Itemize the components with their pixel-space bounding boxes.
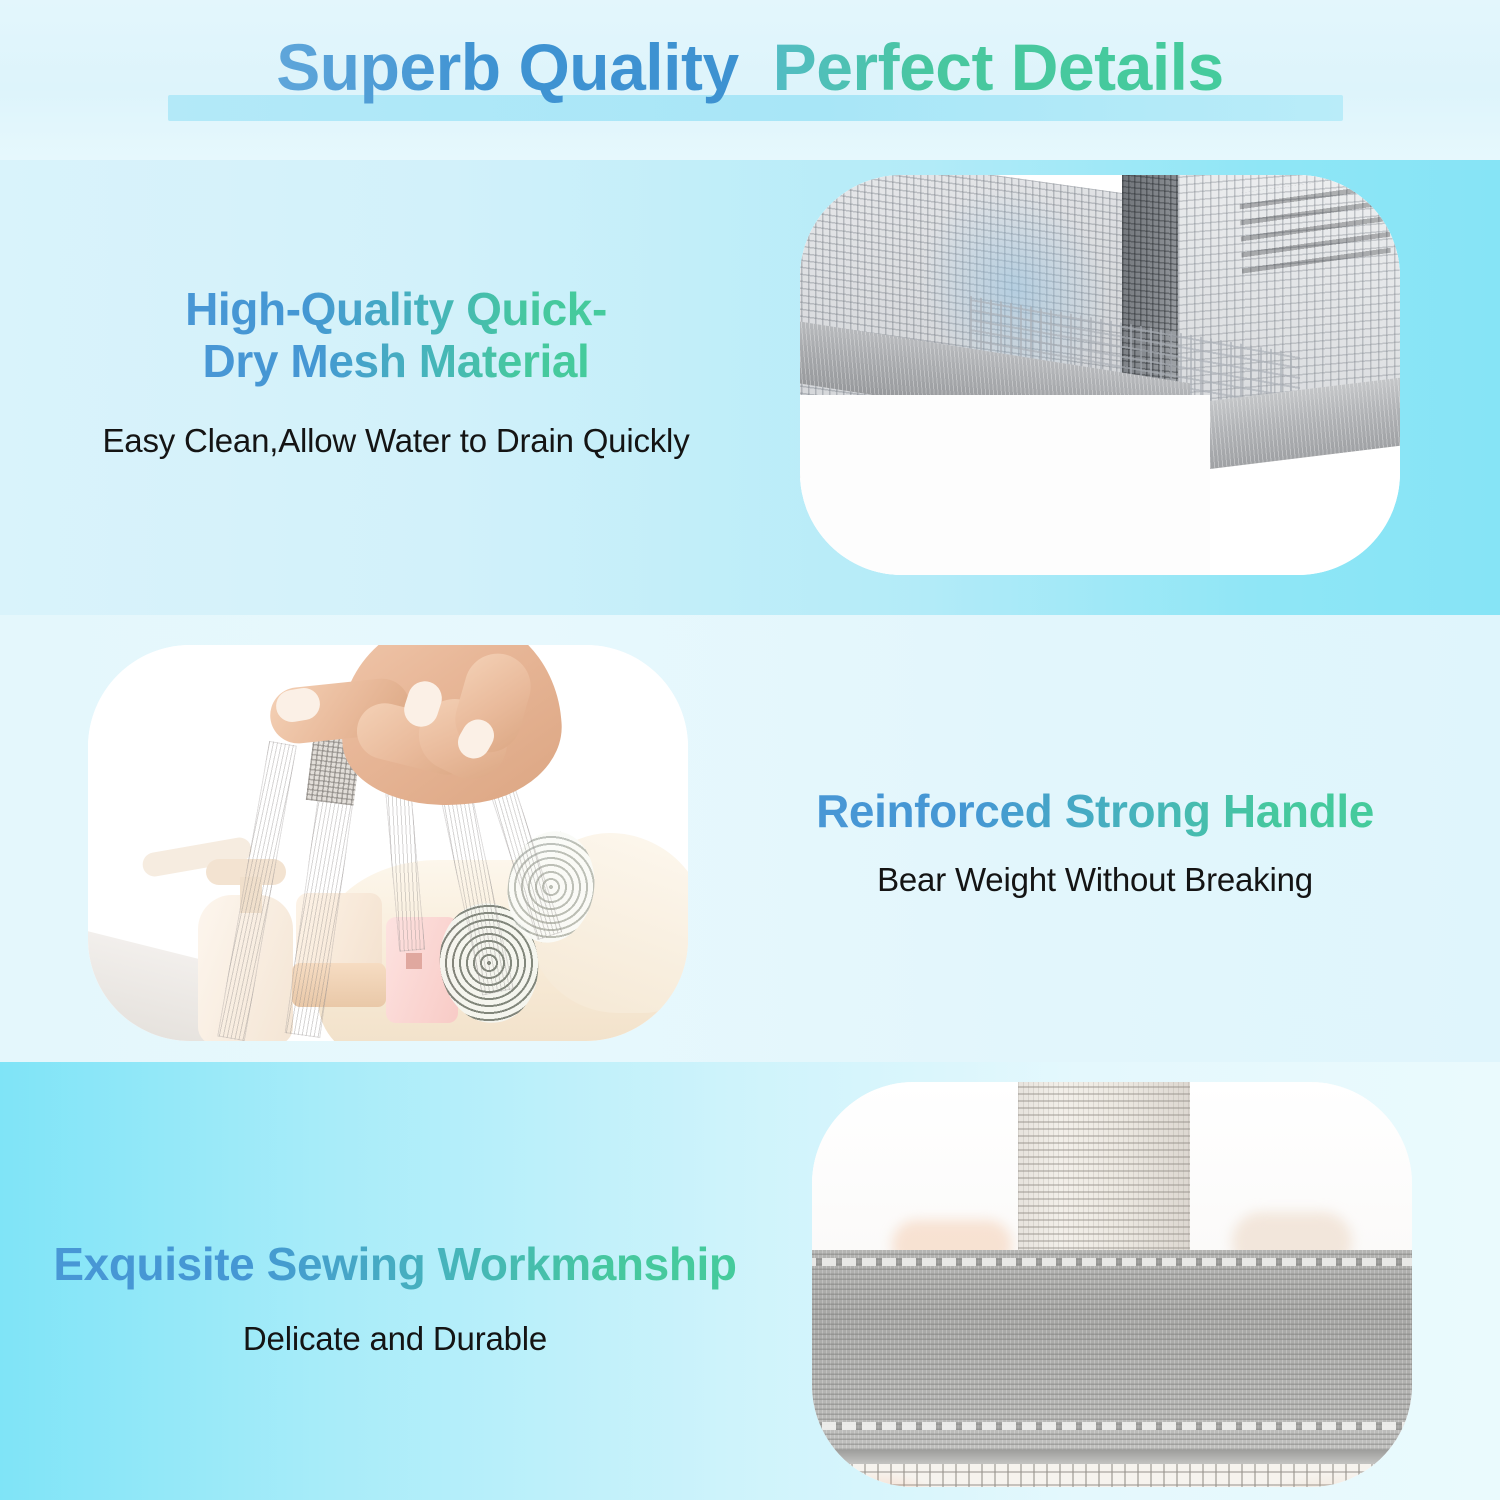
photo3-mesh-contents-left [830, 1472, 950, 1487]
photo3-stitch-line-bottom [812, 1422, 1412, 1430]
feature-title-line-1: Reinforced Strong Handle [816, 785, 1374, 837]
feature-title-line-2: Dry Mesh Material [203, 335, 590, 387]
feature-title-sewing-workmanship: Exquisite Sewing Workmanship [0, 1238, 790, 1290]
product-photo-stitching [812, 1082, 1412, 1487]
photo-handle-lift-content [88, 645, 688, 1041]
feature-text-reinforced-handle: Reinforced Strong Handle Bear Weight Wit… [700, 785, 1490, 899]
feature-subtitle-reinforced-handle: Bear Weight Without Breaking [700, 861, 1490, 899]
feature-title-quick-dry-mesh: High-Quality Quick- Dry Mesh Material [26, 283, 766, 388]
photo2-pink-jar-mark [406, 953, 422, 969]
photo1-white-surface [800, 395, 1210, 575]
photo3-trim-weave [812, 1250, 1412, 1465]
photo3-strap-weave [1018, 1082, 1190, 1263]
page-title: Superb QualityPerfect Details [0, 34, 1500, 100]
photo3-stitch-line-top [812, 1258, 1412, 1266]
product-photo-mesh-corner [800, 175, 1400, 575]
header-banner: Superb QualityPerfect Details [0, 0, 1500, 160]
feature-title-reinforced-handle: Reinforced Strong Handle [700, 785, 1490, 837]
photo3-mesh-contents-right [1242, 1474, 1392, 1487]
product-photo-handle-lift [88, 645, 688, 1041]
photo3-trim-band [812, 1250, 1412, 1465]
product-infographic: Superb QualityPerfect Details High-Quali… [0, 0, 1500, 1500]
feature-subtitle-sewing-workmanship: Delicate and Durable [0, 1320, 790, 1358]
photo3-vertical-handle-strap [1018, 1082, 1190, 1263]
feature-text-quick-dry-mesh: High-Quality Quick- Dry Mesh Material Ea… [26, 283, 766, 460]
photo-stitching-content [812, 1082, 1412, 1487]
feature-title-line-1: Exquisite Sewing Workmanship [53, 1238, 736, 1290]
page-title-part-2: Perfect Details [773, 30, 1224, 104]
feature-title-line-1: High-Quality Quick- [185, 283, 607, 335]
feature-subtitle-quick-dry-mesh: Easy Clean,Allow Water to Drain Quickly [26, 422, 766, 460]
feature-text-sewing-workmanship: Exquisite Sewing Workmanship Delicate an… [0, 1238, 790, 1358]
page-title-part-1: Superb Quality [276, 30, 738, 104]
photo-mesh-corner-content [800, 175, 1400, 575]
